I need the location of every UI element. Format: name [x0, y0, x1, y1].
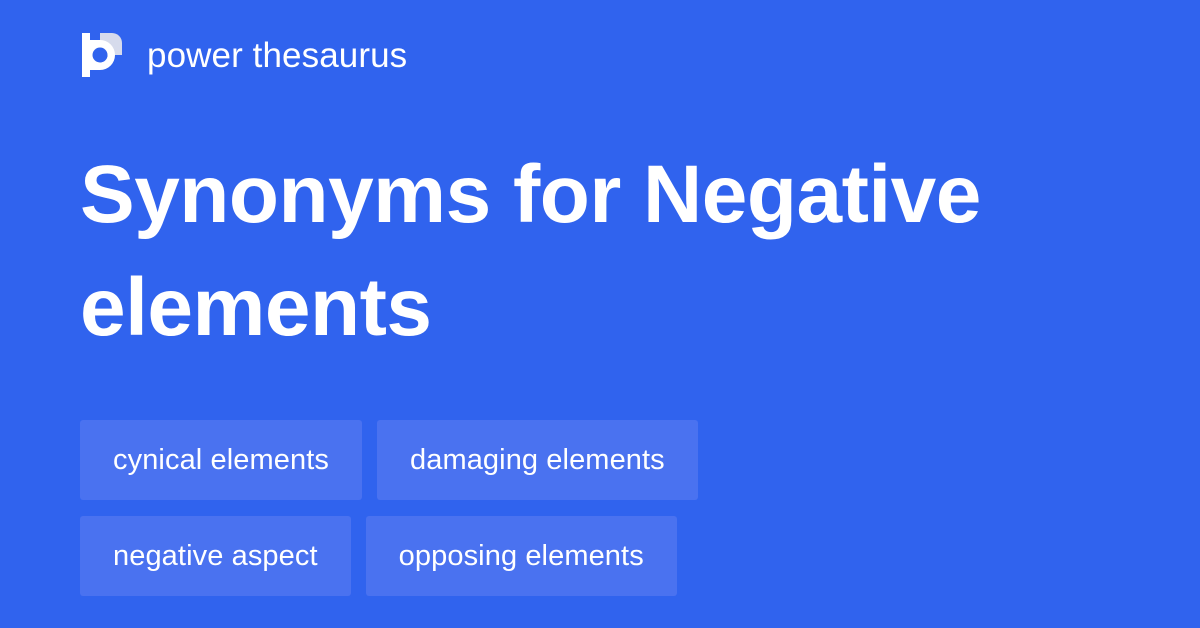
synonym-chip[interactable]: negative aspect	[80, 516, 351, 596]
brand-name: power thesaurus	[147, 38, 407, 73]
synonyms-row: negative aspect opposing elements	[80, 516, 1120, 596]
synonym-chip[interactable]: cynical elements	[80, 420, 362, 500]
synonyms-list: cynical elements damaging elements negat…	[80, 420, 1120, 596]
power-thesaurus-b-mark-icon	[78, 33, 122, 77]
synonyms-row: cynical elements damaging elements	[80, 420, 1120, 500]
synonym-chip[interactable]: damaging elements	[377, 420, 698, 500]
synonym-chip[interactable]: opposing elements	[366, 516, 677, 596]
brand-logo[interactable]: power thesaurus	[78, 28, 407, 82]
page-title: Synonyms for Negative elements	[80, 138, 1040, 364]
social-share-card: power thesaurus Synonyms for Negative el…	[0, 0, 1200, 628]
